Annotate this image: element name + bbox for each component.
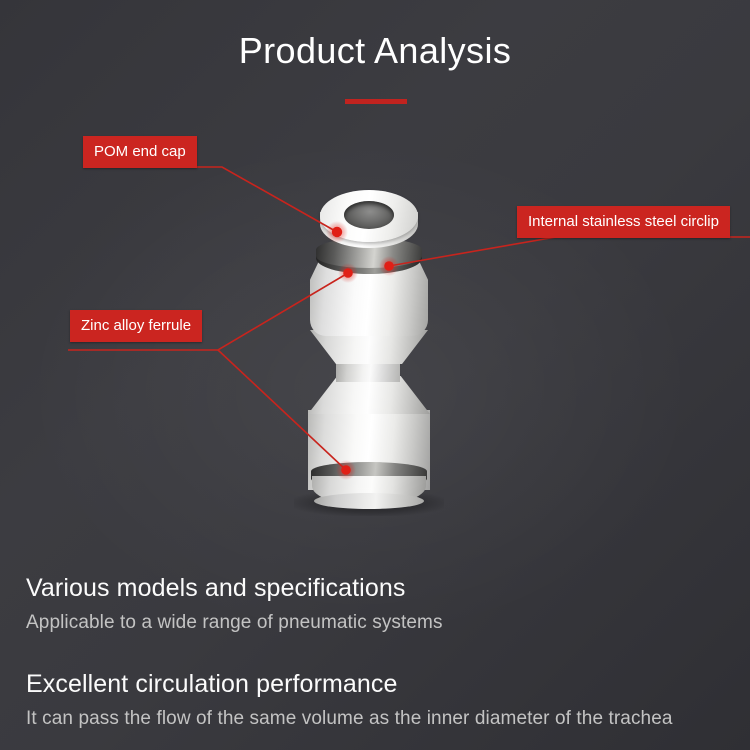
feature-block-circulation: Excellent circulation performance It can…: [26, 670, 673, 730]
callout-badge-circlip: Internal stainless steel circlip: [517, 206, 730, 238]
feature-subtext: Applicable to a wide range of pneumatic …: [26, 612, 443, 634]
product-analysis-infographic: Product Analysis: [0, 0, 750, 750]
product-tube-bore-opening: [344, 201, 394, 229]
product-bottom-cap-lip: [314, 493, 424, 509]
product-image: [288, 190, 448, 520]
feature-heading: Various models and specifications: [26, 574, 443, 603]
page-title: Product Analysis: [0, 30, 750, 72]
title-underline-accent: [345, 99, 407, 104]
feature-block-models: Various models and specifications Applic…: [26, 574, 443, 634]
feature-heading: Excellent circulation performance: [26, 670, 673, 699]
feature-subtext: It can pass the flow of the same volume …: [26, 708, 673, 730]
callout-badge-ferrule: Zinc alloy ferrule: [70, 310, 202, 342]
callout-badge-pom-end-cap: POM end cap: [83, 136, 197, 168]
